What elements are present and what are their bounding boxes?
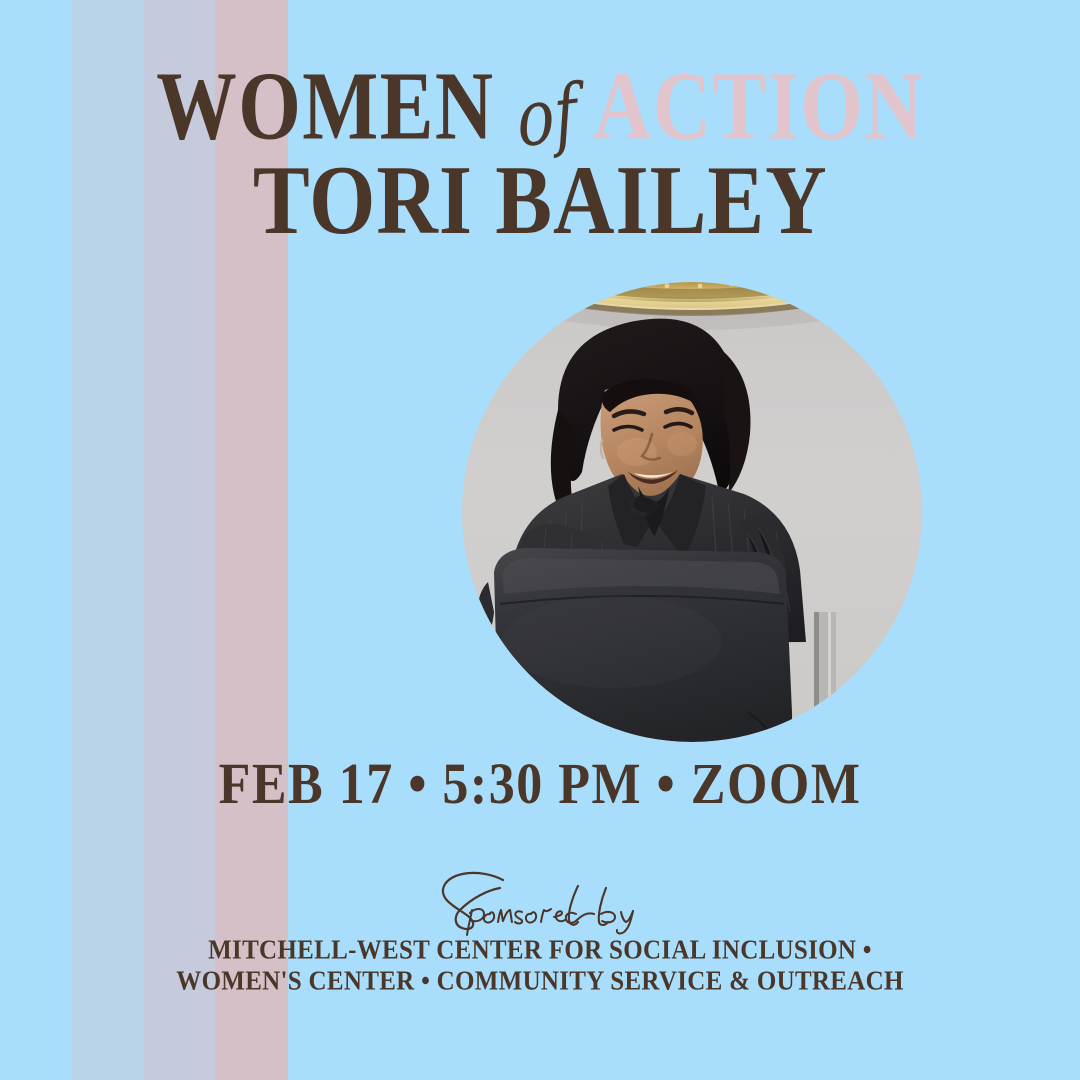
speaker-portrait-photo	[462, 282, 922, 742]
page-title: TORI BAILEY	[253, 150, 828, 249]
sponsor-line-1: MITCHELL-WEST CENTER FOR SOCIAL INCLUSIO…	[0, 934, 1080, 968]
event-poster: WOMEN of ACTION TORI BAILEY	[0, 0, 1080, 1080]
event-details: FEB 17 • 5:30 PM • ZOOM	[0, 762, 1080, 814]
headline-word-women: WOMEN	[156, 58, 494, 155]
headline-line-one: WOMEN of ACTION	[26, 72, 1054, 155]
event-details-text: FEB 17 • 5:30 PM • ZOOM	[219, 756, 862, 814]
sponsor-organization-list: MITCHELL-WEST CENTER FOR SOCIAL INCLUSIO…	[0, 936, 1080, 997]
headline-word-action: ACTION	[593, 58, 924, 155]
headline-line-two: TORI BAILEY	[26, 163, 1054, 249]
sponsor-line-2: WOMEN'S CENTER • COMMUNITY SERVICE & OUT…	[0, 965, 1080, 999]
sponsored-by-script: Sponsored by	[0, 866, 1080, 936]
poster-headline: WOMEN of ACTION TORI BAILEY	[0, 72, 1080, 249]
